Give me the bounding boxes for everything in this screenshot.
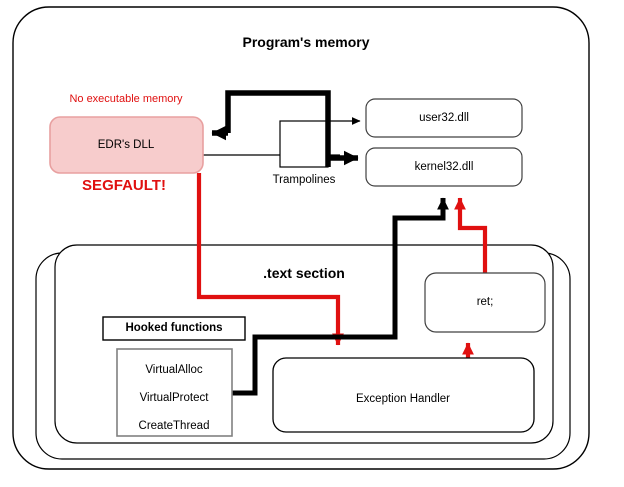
segfault-label: SEGFAULT! [82,178,166,193]
no-executable-memory-label: No executable memory [69,94,182,105]
diagram-canvas: Program's memory No executable memory ED… [0,0,624,487]
hooked-function-item-1[interactable]: VirtualProtect [140,393,209,405]
trampolines-box [280,121,328,167]
trampolines-label: Trampolines [273,175,336,187]
hooked-functions-title: Hooked functions [125,323,222,335]
hooked-function-item-2[interactable]: CreateThread [139,421,210,433]
exception-handler-label: Exception Handler [356,394,450,406]
ret-label: ret; [477,297,494,309]
user32-dll-label: user32.dll [419,113,469,125]
text-section-label: .text section [263,266,345,280]
diagram-vector-layer [0,0,624,487]
edr-dll-label: EDR's DLL [98,140,155,152]
kernel32-dll-label: kernel32.dll [415,162,474,174]
hooked-function-item-0[interactable]: VirtualAlloc [145,365,202,377]
page-title: Program's memory [242,35,369,49]
